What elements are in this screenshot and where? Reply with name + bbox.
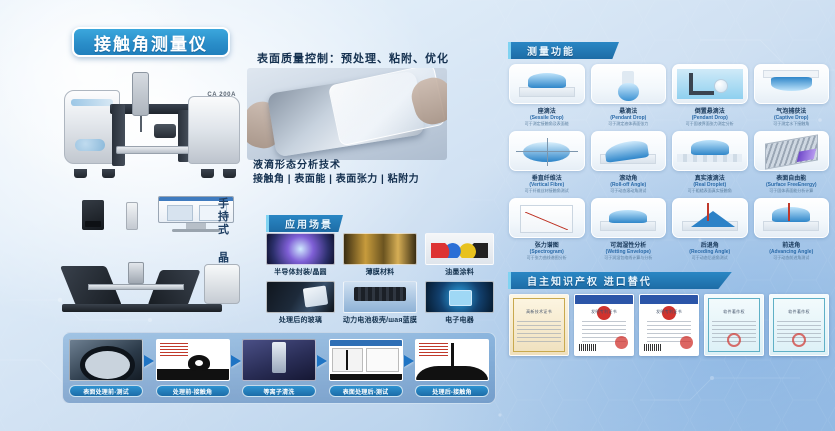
measurement-function-desc: 可于测定水下接触角: [754, 121, 830, 127]
measurement-function-name: 可润湿性分析: [591, 240, 667, 249]
measurement-function-item[interactable]: 后退角(Receding Angle)可于动态后退角测试: [672, 198, 748, 261]
measurement-function-desc: 可于测定液体表面张力: [591, 121, 667, 127]
measurement-function-desc: 可于纤维丝材接触角测试: [509, 188, 585, 194]
instrument-column-left: [112, 104, 125, 166]
flow-arrow-icon: [230, 355, 243, 367]
instrument-foot: [74, 169, 87, 178]
wafer-dispense-head: [128, 262, 144, 284]
measurement-function-desc: 可于测定接触角及表面能: [509, 121, 585, 127]
page-title: 接触角测量仪: [72, 27, 230, 57]
application-label: 动力电池极壳/шая蓝膜: [343, 315, 417, 325]
application-grid: 半导体封装/晶圆薄膜材料油墨涂料处理后的玻璃动力电池极壳/шая蓝膜电子电器: [266, 233, 494, 325]
process-flow-step[interactable]: 表面处理前-测试: [69, 339, 143, 397]
certificate-header-band: [640, 295, 698, 304]
sessile-drop-icon: [509, 64, 585, 104]
application-thumbnail: [425, 233, 494, 265]
receding-angle-icon: [672, 198, 748, 238]
measurement-function-name: 前进角: [754, 240, 830, 249]
process-step-label: 表面处理后-测试: [329, 385, 403, 397]
surface-quality-title: 表面质量控制：预处理、粘附、优化: [257, 50, 449, 66]
surface-quality-block: 表面质量控制：预处理、粘附、优化 液滴形态分析技术 接触角 | 表面能 | 表面…: [247, 50, 447, 182]
instrument-camera-lens: [154, 124, 176, 138]
application-thumbnail: [425, 281, 494, 313]
measurement-function-desc: 可于润湿包络线计算与分析: [591, 255, 667, 261]
flow-arrow-gap: [143, 355, 156, 381]
pendant-drop-icon: [591, 64, 667, 104]
measurement-function-name: 悬滴法: [591, 106, 667, 115]
application-item[interactable]: 油墨涂料: [425, 233, 494, 277]
measurement-function-item[interactable]: 可润湿性分析(Wetting Envelope)可于润湿包络线计算与分析: [591, 198, 667, 261]
certificate-stamp: [727, 333, 741, 347]
contact-angle-meter-illustration: CA 200A: [58, 66, 244, 194]
certificate-thumbnail[interactable]: 发明专利证书: [574, 294, 634, 356]
measurement-function-desc: 可于固液界面张力测定分析: [672, 121, 748, 127]
measurement-function-name: 气泡捕获法: [754, 106, 830, 115]
instrument-model-label: CA 200A: [207, 92, 236, 98]
measurement-function-name: 座滴法: [509, 106, 585, 115]
measurement-function-name: 表面自由能: [754, 173, 830, 182]
advancing-angle-icon: [754, 198, 830, 238]
instrument-foot: [201, 169, 214, 178]
wafer-base: [62, 304, 222, 312]
measurement-function-desc: 可于粗糙表面真实接触角: [672, 188, 748, 194]
process-flow-step[interactable]: 处理后-接触角: [415, 339, 489, 397]
process-step-label: 处理后-接触角: [415, 385, 489, 397]
monitor-base: [172, 229, 220, 232]
flow-arrow-icon: [403, 355, 416, 367]
process-step-label: 处理前-接触角: [156, 385, 230, 397]
certificate-stamp: [792, 333, 806, 347]
application-item[interactable]: 电子电器: [425, 281, 494, 325]
application-thumbnail: [266, 233, 335, 265]
process-flow-strip: 表面处理前-测试处理前-接触角等离子清洗表面处理后-测试处理后-接触角: [62, 332, 496, 404]
application-item[interactable]: 薄膜材料: [343, 233, 417, 277]
label-handheld: 手持式: [216, 198, 232, 237]
measurement-function-desc: 可于动态滚动角测试: [591, 188, 667, 194]
instrument-needle: [140, 116, 142, 132]
surface-quality-photo: [247, 68, 447, 160]
inverted-pendant-drop-icon: [672, 64, 748, 104]
certificate-title: 发明专利证书: [575, 309, 633, 315]
certificate-text-lines: [517, 321, 561, 345]
certificate-thumbnail[interactable]: 发明专利证书: [639, 294, 699, 356]
page-title-text: 接触角测量仪: [94, 30, 208, 55]
flow-arrow-gap: [230, 355, 243, 381]
certificate-thumbnail[interactable]: 软件著作权: [704, 294, 764, 356]
application-scenarios-header-text: 应用场景: [285, 216, 333, 231]
handheld-probe-device: [126, 202, 138, 230]
application-label: 电子电器: [425, 315, 494, 325]
measurement-function-name: 张力谱图: [509, 240, 585, 249]
process-step-label-text: 表面处理前-测试: [83, 387, 129, 396]
flow-arrow-icon: [143, 355, 156, 367]
certificates-grid: 高新技术证书发明专利证书发明专利证书软件著作权软件著作权: [509, 294, 829, 356]
control-box-device: [82, 200, 104, 230]
process-flow-step[interactable]: 处理前-接触角: [156, 339, 230, 397]
measurement-function-item[interactable]: 前进角(Advancing Angle)可于动态前进角测试: [754, 198, 830, 261]
process-flow-step[interactable]: 等离子清洗: [242, 339, 316, 397]
process-step-label-text: 处理前-接触角: [173, 387, 212, 396]
wetting-envelope-icon: [591, 198, 667, 238]
measurement-function-item[interactable]: 滚动角(Roll-off Angle)可于动态滚动角测试: [591, 131, 667, 194]
surface-quality-caption-main: 液滴形态分析技术: [253, 156, 341, 171]
wafer-stage: [88, 284, 184, 290]
certificate-thumbnail[interactable]: 软件著作权: [769, 294, 829, 356]
certificate-thumbnail[interactable]: 高新技术证书: [509, 294, 569, 356]
certificate-barcode: [579, 344, 597, 351]
certificates-section: 自主知识产权 进口替代 高新技术证书发明专利证书发明专利证书软件著作权软件著作权: [505, 272, 831, 384]
instrument-right-housing: [188, 96, 240, 164]
process-step-thumbnail: [329, 339, 403, 381]
application-label: 处理后的玻璃: [266, 315, 335, 325]
flow-arrow-gap: [316, 355, 329, 381]
application-label: 半导体封装/晶圆: [266, 267, 335, 277]
measurement-function-item[interactable]: 悬滴法(Pendant Drop)可于测定液体表面张力: [591, 64, 667, 127]
certificates-header: 自主知识产权 进口替代: [508, 272, 732, 289]
certificate-title: 发明专利证书: [640, 309, 698, 315]
surface-quality-caption-sub: 接触角 | 表面能 | 表面张力 | 粘附力: [253, 170, 419, 185]
certificate-title: 软件著作权: [770, 309, 828, 315]
measurement-function-name: 真实液滴法: [672, 173, 748, 182]
roll-off-angle-icon: [591, 131, 667, 171]
spectrogram-icon: [509, 198, 585, 238]
measurement-function-item[interactable]: 座滴法(Sessile Drop)可于测定接触角及表面能: [509, 64, 585, 127]
instrument-logo: [75, 139, 105, 151]
surface-free-energy-icon: [754, 131, 830, 171]
monitor-image-panel: [167, 205, 193, 221]
certificates-header-text: 自主知识产权 进口替代: [527, 273, 652, 288]
application-thumbnail: [266, 281, 335, 313]
measurement-function-name: 滚动角: [591, 173, 667, 182]
application-label: 薄膜材料: [343, 267, 417, 277]
real-droplet-icon: [672, 131, 748, 171]
measurement-function-item[interactable]: 真实液滴法(Real Droplet)可于粗糙表面真实接触角: [672, 131, 748, 194]
application-scenarios-header: 应用场景: [266, 215, 343, 232]
flow-arrow-icon: [316, 355, 329, 367]
application-thumbnail: [343, 233, 417, 265]
handheld-device-group: [60, 196, 240, 242]
process-flow-step[interactable]: 表面处理后-测试: [329, 339, 403, 397]
measurement-function-name: 后退角: [672, 240, 748, 249]
instrument-foot: [223, 169, 236, 178]
measurement-functions-grid: 座滴法(Sessile Drop)可于测定接触角及表面能悬滴法(Pendant …: [509, 64, 829, 261]
measurement-function-desc: 可于动态前进角测试: [754, 255, 830, 261]
wafer-instrument-image: [58, 246, 244, 318]
measurement-function-item[interactable]: 垂直纤维法(Vertical Fibre)可于纤维丝材接触角测试: [509, 131, 585, 194]
process-step-label-text: 表面处理后-测试: [343, 387, 389, 396]
measurement-function-desc: 可于动态后退角测试: [672, 255, 748, 261]
application-label: 油墨涂料: [425, 267, 494, 277]
product-poster: 接触角测量仪 CA 200A: [0, 0, 835, 431]
hero-instrument-image: CA 200A: [58, 66, 244, 194]
measurement-functions-header-text: 测量功能: [527, 43, 575, 58]
certificate-title: 软件著作权: [705, 309, 763, 315]
measurement-functions-section: 测量功能 座滴法(Sessile Drop)可于测定接触角及表面能悬滴法(Pen…: [505, 42, 831, 266]
measurement-function-item[interactable]: 气泡捕获法(Captive Drop)可于测定水下接触角: [754, 64, 830, 127]
measurement-function-name: 倒置悬滴法: [672, 106, 748, 115]
measurement-function-item[interactable]: 张力谱图(Spectrogram)可于张力曲线谱图分析: [509, 198, 585, 261]
vertical-fibre-icon: [509, 131, 585, 171]
certificate-stamp: [615, 336, 628, 349]
application-thumbnail: [343, 281, 417, 313]
wafer-controller: [204, 264, 240, 304]
process-step-label-text: 处理后-接触角: [432, 387, 471, 396]
certificate-stamp: [680, 336, 693, 349]
measurement-function-item[interactable]: 倒置悬滴法(Pendant Drop)可于固液界面张力测定分析: [672, 64, 748, 127]
process-step-thumbnail: [69, 339, 143, 381]
process-step-thumbnail: [242, 339, 316, 381]
application-scenarios-section: 应用场景 半导体封装/晶圆薄膜材料油墨涂料处理后的玻璃动力电池极壳/шая蓝膜电…: [266, 215, 494, 323]
process-step-thumbnail: [156, 339, 230, 381]
application-item[interactable]: 动力电池极壳/шая蓝膜: [343, 281, 417, 325]
captive-bubble-icon: [754, 64, 830, 104]
measurement-function-name: 垂直纤维法: [509, 173, 585, 182]
instrument-syringe: [132, 72, 149, 116]
application-item[interactable]: 处理后的玻璃: [266, 281, 335, 325]
process-step-label: 表面处理前-测试: [69, 385, 143, 397]
measurement-function-desc: 可于固体表面能分析计算: [754, 188, 830, 194]
measurement-functions-header: 测量功能: [508, 42, 619, 59]
instrument-foot: [102, 169, 115, 178]
measurement-function-item[interactable]: 表面自由能(Surface FreeEnergy)可于固体表面能分析计算: [754, 131, 830, 194]
process-step-thumbnail: [415, 339, 489, 381]
application-item[interactable]: 半导体封装/晶圆: [266, 233, 335, 277]
certificate-header-band: [575, 295, 633, 304]
process-step-label-text: 等离子清洗: [263, 387, 294, 396]
instrument-sample-stage: [116, 146, 192, 154]
certificate-barcode: [644, 344, 662, 351]
flow-arrow-gap: [403, 355, 416, 381]
process-step-label: 等离子清洗: [242, 385, 316, 397]
measurement-function-desc: 可于张力曲线谱图分析: [509, 255, 585, 261]
certificate-title: 高新技术证书: [510, 309, 568, 315]
